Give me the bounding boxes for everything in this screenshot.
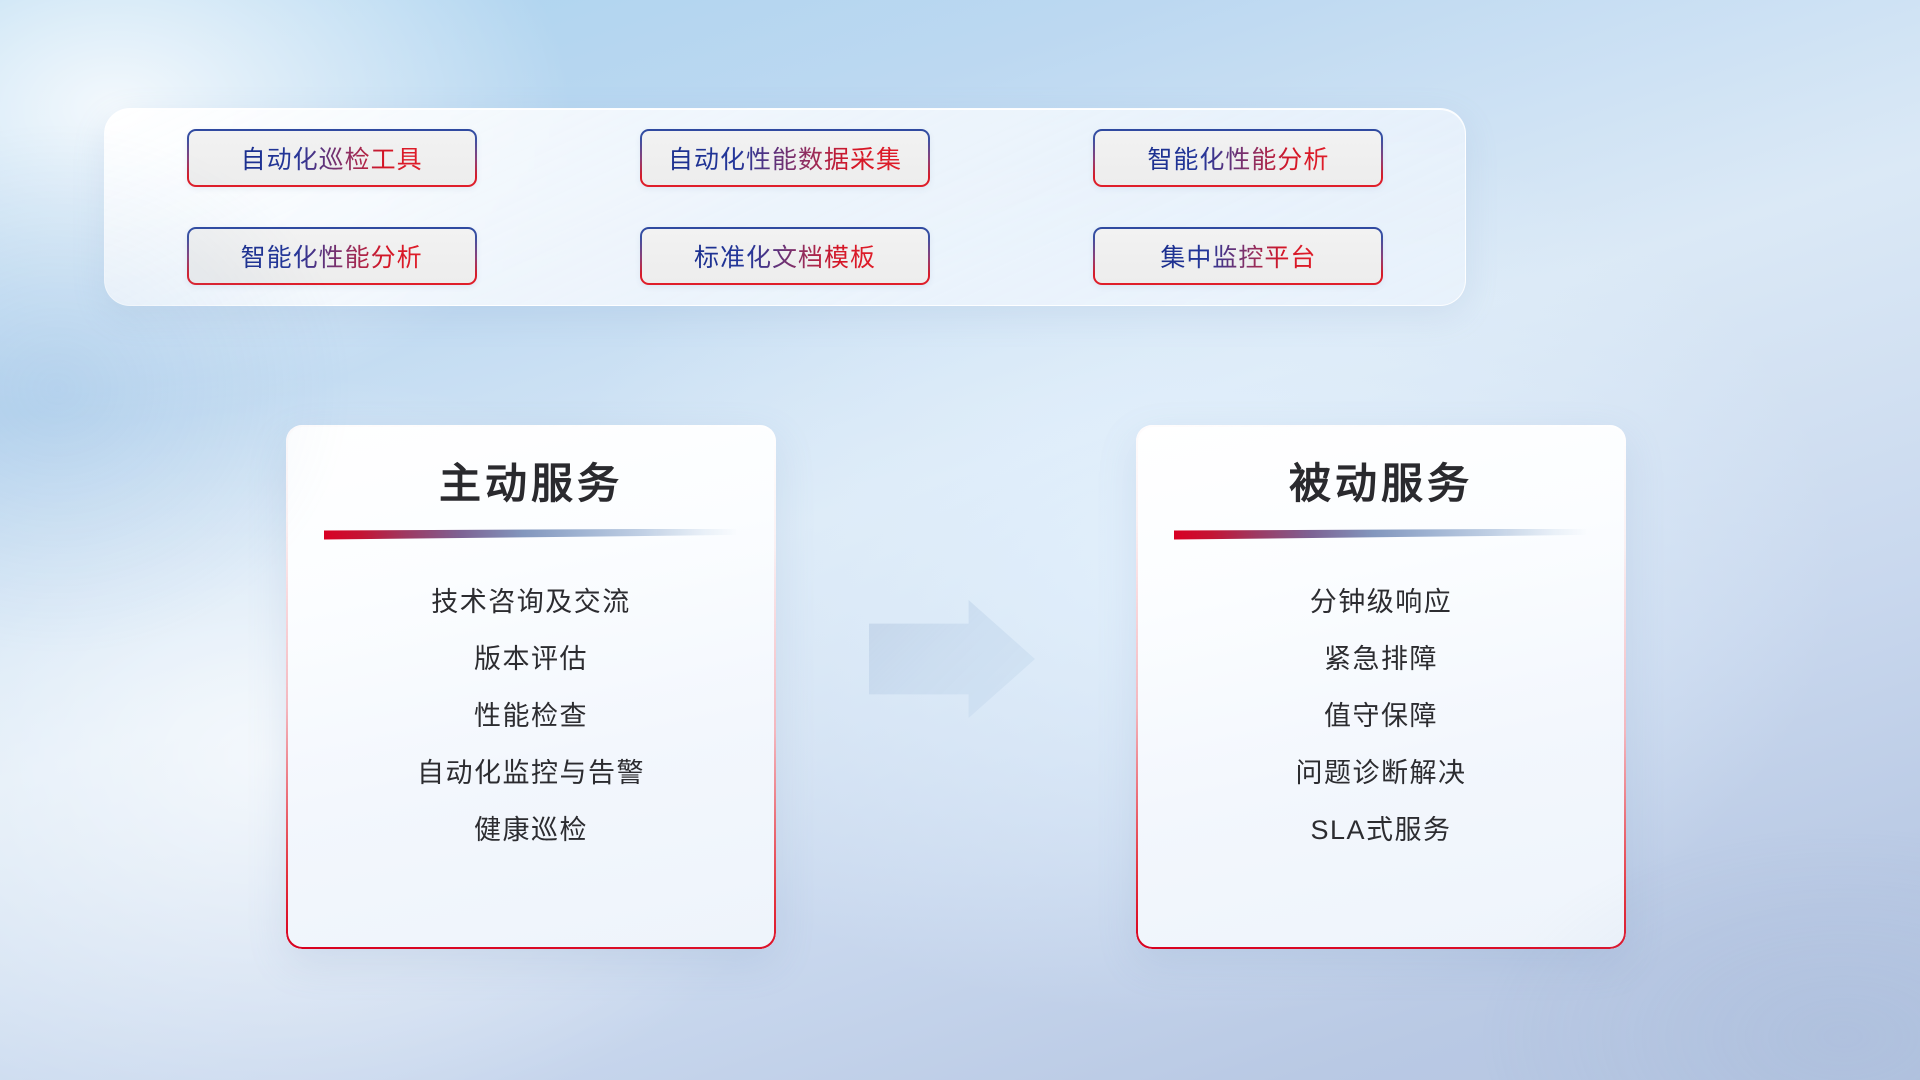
slide-canvas: 自动化巡检工具 自动化性能数据采集 智能化性能分析 智能化性能分析 <box>0 0 1920 1080</box>
service-card-reactive-list: 分钟级响应 紧急排障 值守保障 问题诊断解决 SLA式服务 <box>1176 574 1586 859</box>
list-item: 性能检查 <box>474 688 588 745</box>
list-item: 问题诊断解决 <box>1296 745 1467 802</box>
capability-pill-4-inner: 智能化性能分析 <box>189 229 475 283</box>
service-card-proactive[interactable]: 主动服务 技术咨询及交流 版本评估 性能检查 自动化监控与告警 健康巡检 <box>286 425 776 949</box>
service-card-reactive[interactable]: 被动服务 分钟级响应 紧急排障 值守保障 问题诊断解决 SLA式服务 <box>1136 425 1626 949</box>
capability-pill-6-label: 集中监控平台 <box>1160 238 1316 274</box>
capability-pill-2[interactable]: 自动化性能数据采集 <box>640 129 930 187</box>
list-item: 版本评估 <box>474 631 588 688</box>
capability-panel: 自动化巡检工具 自动化性能数据采集 智能化性能分析 智能化性能分析 <box>104 108 1466 306</box>
list-item: 自动化监控与告警 <box>417 745 645 802</box>
capability-pill-6[interactable]: 集中监控平台 <box>1093 227 1383 285</box>
capability-pill-grid: 自动化巡检工具 自动化性能数据采集 智能化性能分析 智能化性能分析 <box>105 109 1465 305</box>
list-item: 值守保障 <box>1324 688 1438 745</box>
capability-pill-4-label: 智能化性能分析 <box>241 238 423 274</box>
capability-pill-1[interactable]: 自动化巡检工具 <box>187 129 477 187</box>
capability-pill-4[interactable]: 智能化性能分析 <box>187 227 477 285</box>
service-card-proactive-list: 技术咨询及交流 版本评估 性能检查 自动化监控与告警 健康巡检 <box>326 574 736 859</box>
capability-pill-3-inner: 智能化性能分析 <box>1095 131 1381 185</box>
capability-pill-5-inner: 标准化文档模板 <box>642 229 928 283</box>
list-item: 技术咨询及交流 <box>431 574 631 631</box>
divider-bar <box>1174 529 1588 540</box>
service-card-reactive-divider <box>1174 529 1588 540</box>
capability-pill-3[interactable]: 智能化性能分析 <box>1093 129 1383 187</box>
capability-pill-6-inner: 集中监控平台 <box>1095 229 1381 283</box>
list-item: 健康巡检 <box>474 802 588 859</box>
list-item: 紧急排障 <box>1324 631 1438 688</box>
service-card-proactive-title: 主动服务 <box>439 459 623 509</box>
service-card-reactive-body: 被动服务 分钟级响应 紧急排障 值守保障 问题诊断解决 SLA式服务 <box>1136 425 1626 949</box>
divider-bar <box>324 529 738 540</box>
service-card-proactive-divider <box>324 529 738 540</box>
capability-pill-1-label: 自动化巡检工具 <box>241 140 423 176</box>
capability-pill-1-inner: 自动化巡检工具 <box>189 131 475 185</box>
list-item: SLA式服务 <box>1310 802 1451 859</box>
capability-pill-5-label: 标准化文档模板 <box>694 238 876 274</box>
capability-pill-5[interactable]: 标准化文档模板 <box>640 227 930 285</box>
capability-pill-2-label: 自动化性能数据采集 <box>668 140 902 176</box>
capability-pill-3-label: 智能化性能分析 <box>1147 140 1329 176</box>
arrow-right-icon <box>869 600 1035 718</box>
service-card-reactive-title: 被动服务 <box>1289 459 1473 509</box>
list-item: 分钟级响应 <box>1310 574 1453 631</box>
capability-pill-2-inner: 自动化性能数据采集 <box>642 131 928 185</box>
service-card-proactive-body: 主动服务 技术咨询及交流 版本评估 性能检查 自动化监控与告警 健康巡检 <box>286 425 776 949</box>
